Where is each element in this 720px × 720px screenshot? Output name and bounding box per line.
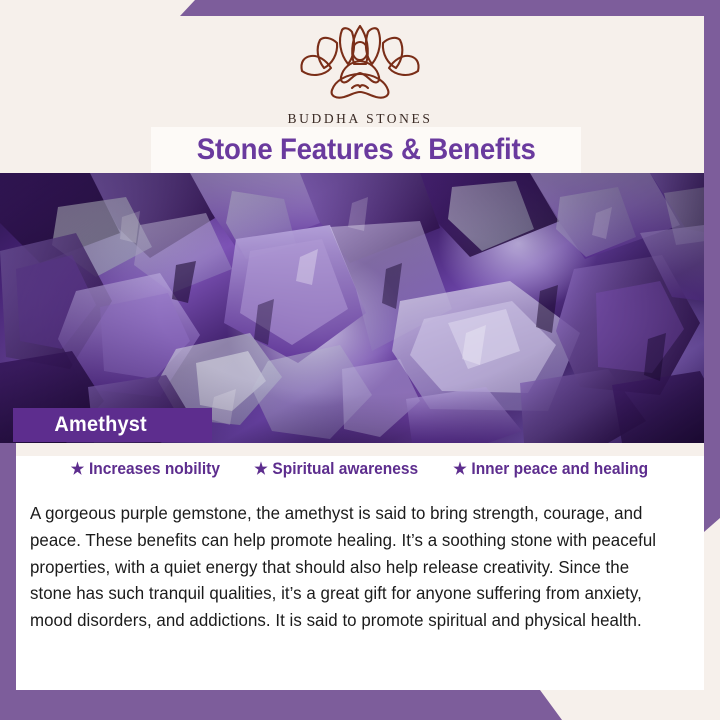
lotus-meditation-figure-icon [290, 24, 430, 107]
benefit-label: Increases nobility [89, 460, 220, 479]
panel-top-strip [16, 443, 704, 456]
brand-logo-block: BUDDHA STONES [0, 24, 720, 127]
benefit-item-inner-peace-and-healing: ★ Inner peace and healing [453, 460, 648, 479]
stone-name-banner: Amethyst [13, 408, 212, 442]
star-icon: ★ [71, 462, 84, 478]
decor-right-purple-strip [704, 0, 720, 532]
amethyst-hero-image [0, 173, 720, 443]
page-title: Stone Features & Benefits [197, 133, 536, 167]
benefit-item-spiritual-awareness: ★ Spiritual awareness [254, 460, 418, 479]
content-panel: ★ Increases nobility ★ Spiritual awarene… [16, 443, 704, 690]
star-icon: ★ [254, 462, 267, 478]
benefit-item-increases-nobility: ★ Increases nobility [71, 460, 220, 479]
decor-bottom-purple-band [0, 690, 720, 720]
page-header: BUDDHA STONES Stone Features & Benefits [0, 0, 720, 173]
benefit-label: Inner peace and healing [471, 460, 648, 479]
decor-left-purple-strip [0, 443, 16, 720]
benefits-row: ★ Increases nobility ★ Spiritual awarene… [16, 460, 704, 479]
hero-vignette [0, 173, 720, 443]
stone-name-label: Amethyst [16, 413, 146, 437]
brand-wordmark: BUDDHA STONES [288, 111, 433, 127]
star-icon: ★ [453, 462, 466, 478]
benefit-label: Spiritual awareness [272, 460, 418, 479]
stone-description-text: A gorgeous purple gemstone, the amethyst… [30, 500, 672, 634]
page-title-box: Stone Features & Benefits [151, 127, 581, 173]
